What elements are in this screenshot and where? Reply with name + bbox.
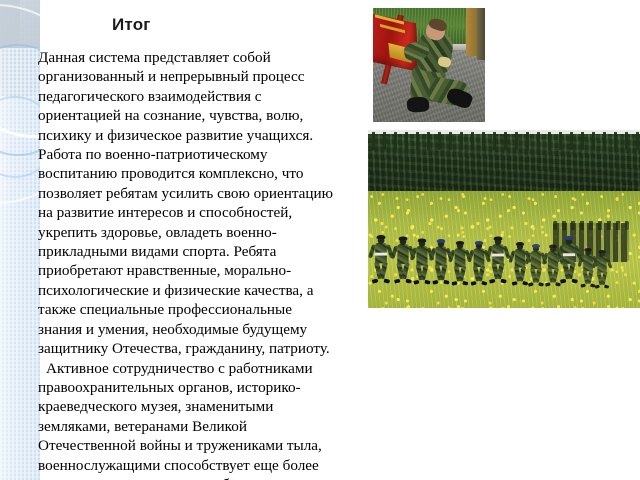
cadet-boot-left: [471, 281, 477, 286]
cadet-boot-left: [452, 281, 458, 286]
cadet-leg-right: [551, 268, 558, 283]
cadet-figure: [491, 239, 506, 285]
cadet-legs: [416, 264, 429, 283]
cadet-legs: [514, 267, 526, 285]
cadet-leg-right: [535, 267, 542, 282]
cadet-torso: [583, 254, 593, 271]
cadet-beret: [377, 235, 386, 239]
cadet-legs: [547, 268, 559, 285]
left-decorative-band: [0, 0, 40, 480]
presentation-slide: Итог Данная система представляет собой о…: [0, 0, 640, 480]
cadet-figure: [530, 245, 544, 286]
cadet-figure: [472, 242, 486, 285]
cadet-torso: [417, 246, 428, 266]
slide-title: Итог: [112, 14, 342, 36]
cadet-legs: [375, 262, 389, 282]
cadet-torso: [531, 250, 541, 268]
paragraph-2: Активное сотрудничество с работниками пр…: [38, 359, 334, 480]
cadet-leg-right: [600, 271, 607, 285]
cadet-legs: [583, 270, 594, 286]
cadet-boot-left: [512, 281, 518, 286]
soldier-boot-left: [406, 96, 429, 112]
cadet-beret: [494, 237, 503, 241]
cadet-figure: [513, 244, 527, 286]
treeline-silhouette: [368, 132, 640, 150]
cadet-legs: [454, 266, 467, 284]
cadet-belt: [563, 253, 575, 256]
cadet-boot-left: [581, 284, 586, 288]
cadet-leg-right: [519, 266, 527, 282]
cadet-torso: [455, 248, 466, 267]
cadet-boot-left: [594, 284, 599, 288]
cadet-legs: [530, 268, 542, 285]
cadet-figure: [561, 238, 576, 284]
cadet-leg-right: [459, 265, 467, 281]
decorative-arc-small: [0, 96, 40, 178]
cadet-beret: [565, 236, 574, 240]
cadet-legs: [562, 263, 575, 282]
cadet-beret: [437, 239, 445, 243]
cadet-leg-right: [402, 263, 410, 280]
cadet-beret: [598, 250, 605, 253]
cadet-boot-left: [414, 280, 420, 285]
cadet-beret: [418, 238, 426, 242]
cadet-beret: [456, 241, 464, 245]
cadet-boot-left: [560, 279, 566, 284]
cadet-belt: [492, 254, 504, 257]
wooden-post-secondary: [477, 8, 485, 60]
photo-cadets-marching: [368, 130, 640, 308]
cadet-figure: [582, 250, 595, 288]
photo-banner-scene: [373, 8, 485, 122]
cadet-figure: [374, 237, 390, 284]
cadet-legs: [473, 266, 486, 284]
cadet-torso: [474, 248, 485, 267]
cadet-figure: [434, 241, 449, 285]
cadet-legs: [596, 271, 607, 287]
cadet-torso: [436, 246, 447, 265]
cadet-beret: [549, 244, 557, 247]
cadet-boot-left: [545, 282, 551, 286]
cadet-leg-right: [380, 261, 389, 278]
photo-march-scene: [368, 130, 640, 308]
cadet-beret: [533, 244, 541, 247]
cadet-leg-right: [478, 265, 486, 281]
slide-body-text: Данная система представляет собой органи…: [38, 48, 334, 480]
cadet-legs: [435, 265, 448, 283]
cadet-beret: [475, 241, 483, 245]
cadet-beret: [585, 248, 592, 251]
cadet-boot-right: [604, 284, 609, 288]
cadet-legs: [492, 263, 505, 282]
cadet-leg-right: [440, 264, 448, 280]
cadet-figure: [415, 240, 430, 285]
cadet-beret: [516, 242, 524, 246]
cadet-belt: [375, 252, 388, 255]
cadet-torso: [597, 256, 606, 272]
cadet-boot-left: [394, 279, 400, 284]
cadet-beret: [399, 237, 408, 241]
cadet-torso: [397, 244, 408, 264]
cadet-leg-right: [587, 270, 594, 284]
cadet-figure: [453, 242, 467, 285]
paragraph-1: Данная система представляет собой органи…: [38, 48, 334, 359]
cadet-boot-left: [489, 279, 495, 284]
cadet-torso: [515, 249, 526, 267]
cadet-leg-right: [421, 264, 429, 280]
cadet-legs: [397, 263, 410, 282]
cadet-leg-right: [497, 263, 505, 280]
cadet-leg-right: [567, 262, 575, 279]
cadet-figure: [396, 239, 411, 285]
cadet-figure: [596, 251, 608, 288]
photo-soldier-kissing-banner: [373, 8, 485, 122]
cadet-boot-left: [433, 280, 439, 285]
